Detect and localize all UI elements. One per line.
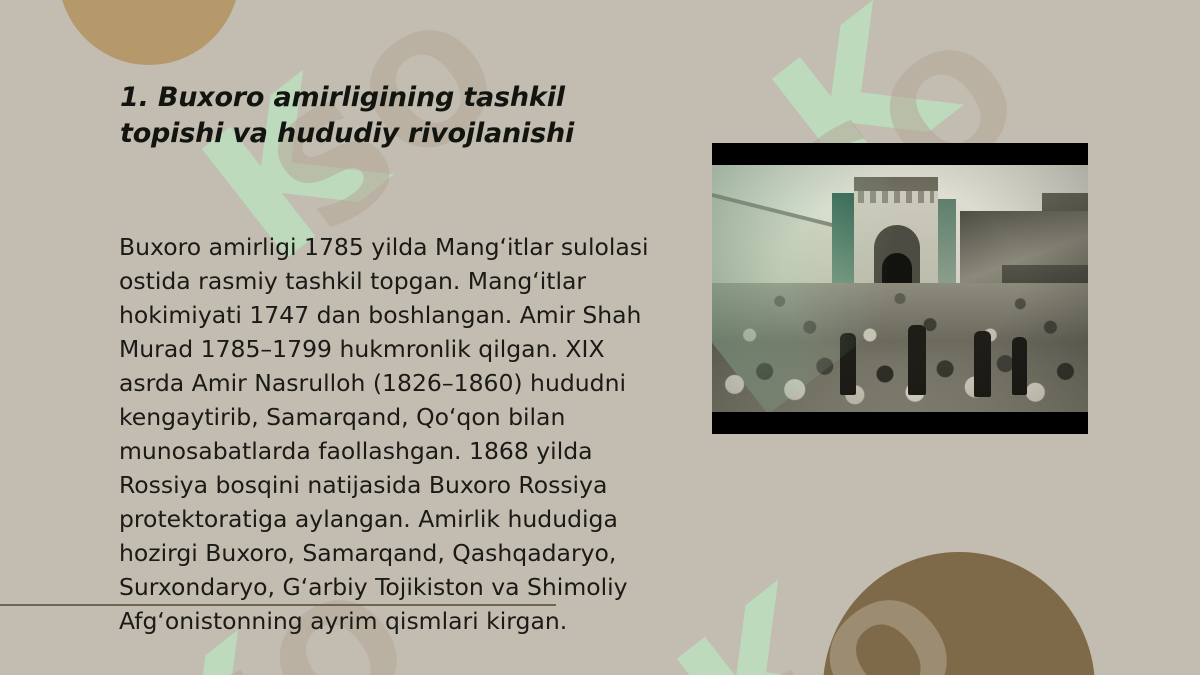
slide-title: 1. Buxoro amirligining tashkil topishi v… (120, 80, 650, 152)
photo-image-content (712, 165, 1088, 412)
decorative-circle-top-left (58, 0, 240, 65)
horizontal-divider (0, 604, 556, 606)
slide-body-text: Buxoro amirligi 1785 yilda Mang‘itlar su… (119, 230, 659, 638)
presentation-slide: K SO K SO K SO K SO 1. Buxoro amirligini… (0, 0, 1200, 675)
historical-photo (712, 143, 1088, 434)
photo-vignette (712, 165, 1088, 412)
decorative-circle-bottom-right (823, 552, 1095, 675)
